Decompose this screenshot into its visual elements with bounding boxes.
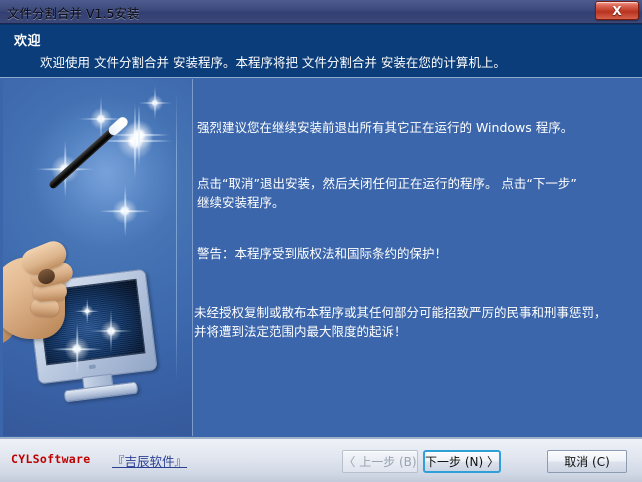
wizard-text-column: 强烈建议您在继续安装前退出所有其它正在运行的 Windows 程序。 点击“取消…	[194, 78, 642, 437]
brand-label: CYLSoftware	[11, 452, 90, 466]
page-subtitle: 欢迎使用 文件分割合并 安装程序。本程序将把 文件分割合并 安装在您的计算机上。	[40, 52, 506, 71]
next-button[interactable]: 下一步 (N) 〉	[423, 450, 501, 473]
close-button[interactable]: X	[595, 1, 639, 20]
vendor-website-link[interactable]: 『吉辰软件』	[112, 451, 187, 470]
wizard-body: 强烈建议您在继续安装前退出所有其它正在运行的 Windows 程序。 点击“取消…	[0, 77, 642, 437]
welcome-paragraph-1: 强烈建议您在继续安装前退出所有其它正在运行的 Windows 程序。	[197, 118, 617, 137]
artwork-panel	[3, 79, 193, 436]
wizard-header: 欢迎 欢迎使用 文件分割合并 安装程序。本程序将把 文件分割合并 安装在您的计算…	[0, 24, 642, 77]
hand-graphic	[3, 239, 87, 349]
cancel-button[interactable]: 取消 (C)	[547, 450, 627, 473]
installer-window: 文件分割合并 V1.5安装 X 欢迎 欢迎使用 文件分割合并 安装程序。本程序将…	[0, 0, 642, 482]
wizard-footer: CYLSoftware 『吉辰软件』 〈 上一步 (B) 下一步 (N) 〉 取…	[0, 437, 642, 482]
back-button[interactable]: 〈 上一步 (B)	[342, 450, 418, 473]
title-bar: 文件分割合并 V1.5安装 X	[0, 0, 642, 24]
window-title: 文件分割合并 V1.5安装	[7, 3, 139, 22]
welcome-paragraph-3-warning: 警告：本程序受到版权法和国际条约的保护！	[197, 244, 617, 263]
page-title: 欢迎	[14, 30, 41, 49]
close-icon: X	[612, 5, 621, 17]
welcome-paragraph-4-legal: 未经授权复制或散布本程序或其任何部分可能招致严厉的民事和刑事惩罚， 并将遭到法定…	[194, 303, 624, 341]
decorative-divider-line	[176, 91, 177, 381]
welcome-paragraph-2: 点击“取消”退出安装，然后关闭任何正在运行的程序。 点击“下一步” 继续安装程序…	[197, 174, 605, 212]
